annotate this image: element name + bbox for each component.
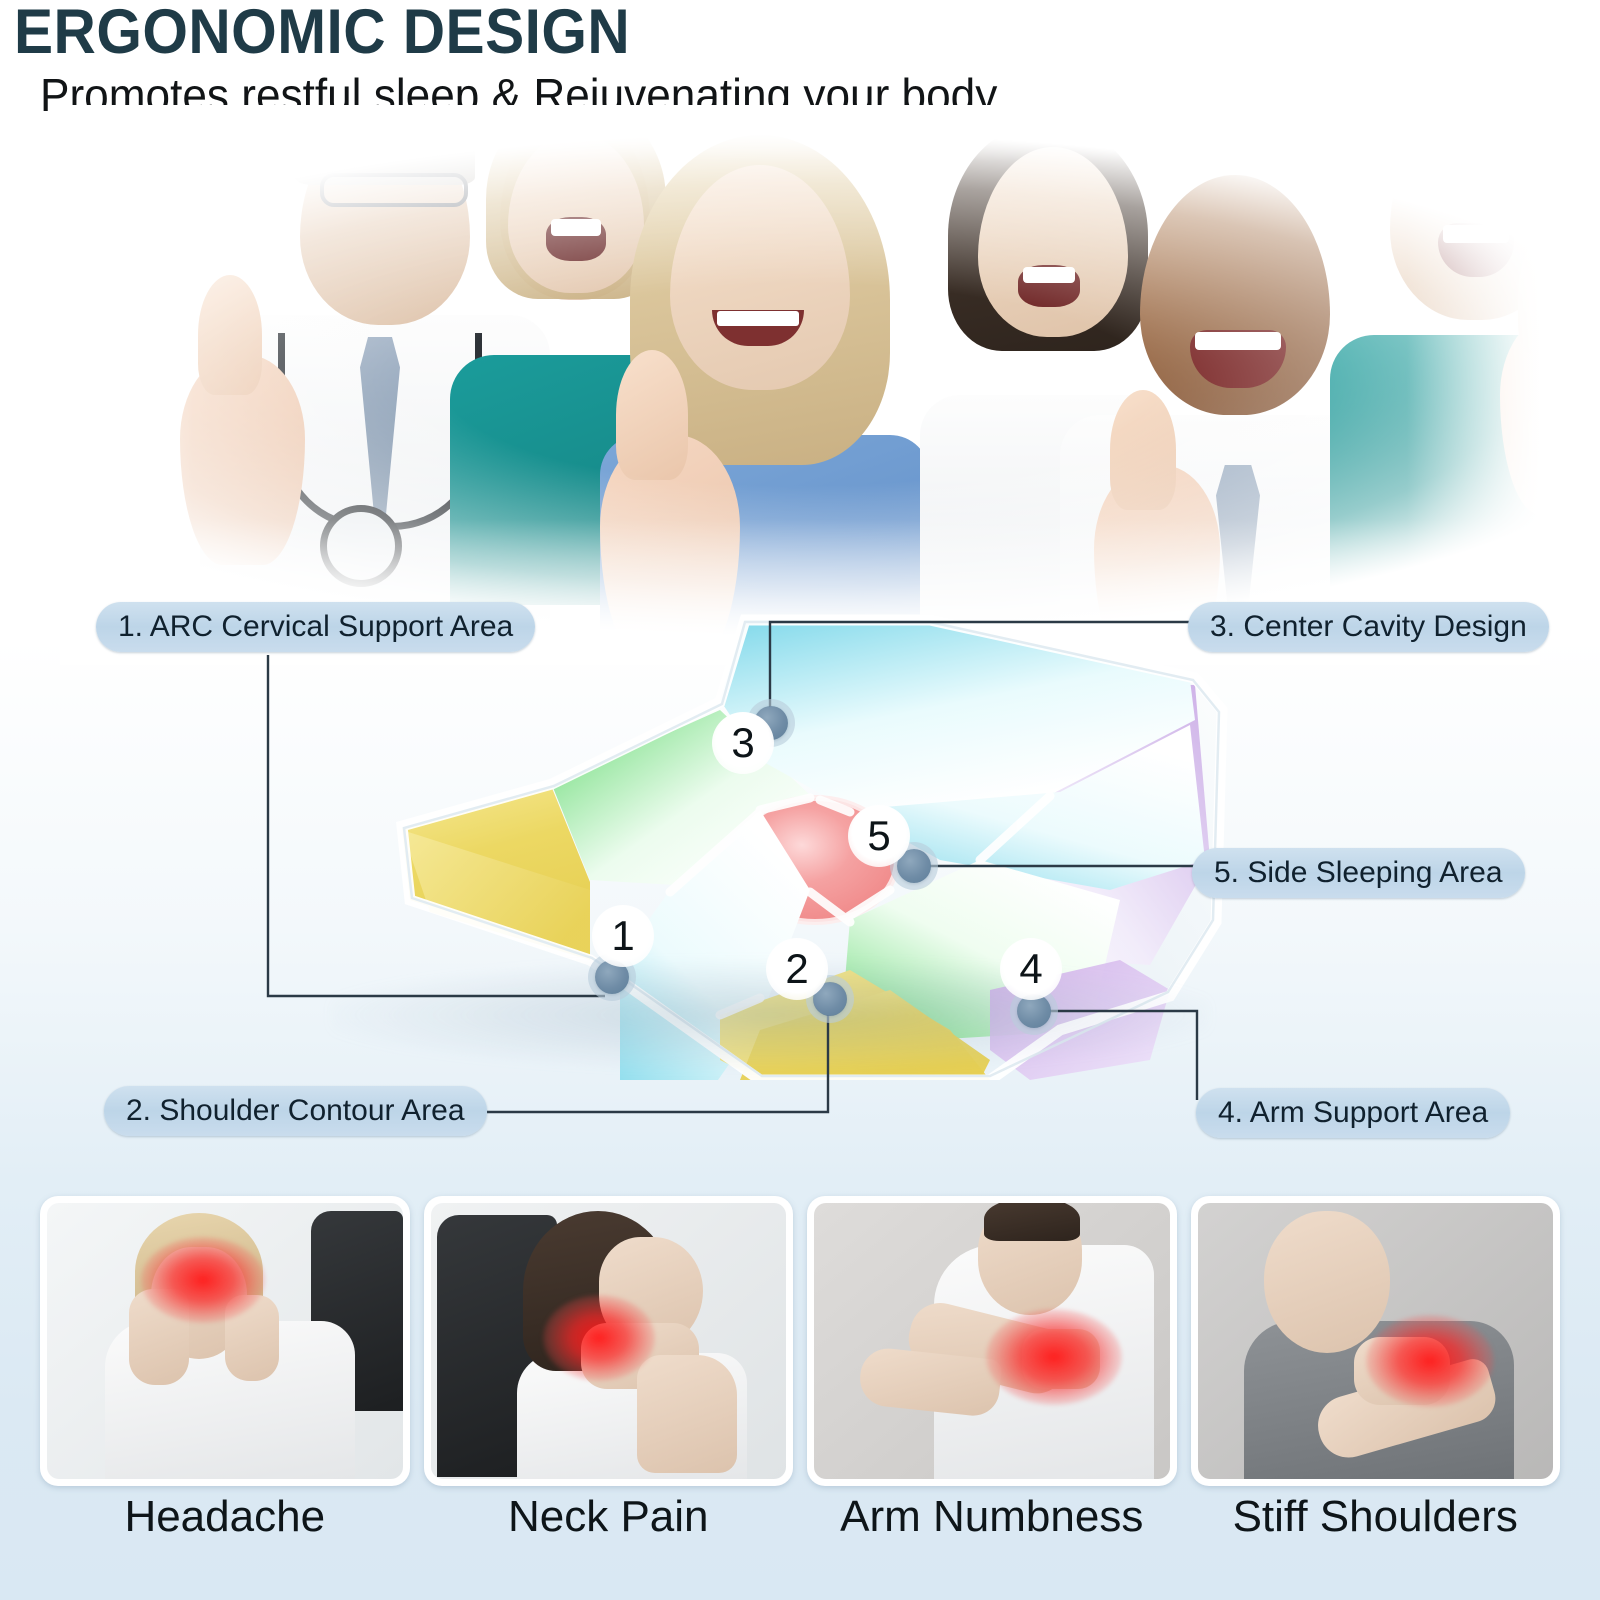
callout-pill-4[interactable]: 4. Arm Support Area: [1196, 1088, 1510, 1138]
problem-card-stiff-shoulders[interactable]: [1191, 1196, 1561, 1486]
pillow-number-4: 4: [1000, 938, 1062, 1000]
pillow-number-1: 1: [592, 905, 654, 967]
problem-card-headache[interactable]: [40, 1196, 410, 1486]
page-title: ERGONOMIC DESIGN: [14, 0, 630, 68]
problem-image-arm-numbness: [814, 1203, 1170, 1479]
infographic-page: ERGONOMIC DESIGN Promotes restful sleep …: [0, 0, 1600, 1600]
person-male-nurse-teal: [1350, 105, 1540, 625]
callout-pill-2[interactable]: 2. Shoulder Contour Area: [104, 1086, 487, 1136]
problem-cards-row: [40, 1196, 1560, 1486]
callout-pill-3[interactable]: 3. Center Cavity Design: [1188, 602, 1549, 652]
pillow-number-3: 3: [712, 712, 774, 774]
problem-card-neck-pain[interactable]: [424, 1196, 794, 1486]
caption-headache: Headache: [40, 1492, 410, 1562]
pain-indicator: [543, 1295, 655, 1381]
problem-image-stiff-shoulders: [1198, 1203, 1554, 1479]
problem-captions-row: Headache Neck Pain Arm Numbness Stiff Sh…: [40, 1492, 1560, 1562]
problem-card-arm-numbness[interactable]: [807, 1196, 1177, 1486]
pillow-number-5: 5: [848, 805, 910, 867]
pillow-number-2: 2: [766, 938, 828, 1000]
problem-image-headache: [47, 1203, 403, 1479]
caption-neck-pain: Neck Pain: [424, 1492, 794, 1562]
caption-stiff-shoulders: Stiff Shoulders: [1191, 1492, 1561, 1562]
pain-indicator: [986, 1309, 1122, 1405]
callout-pill-5[interactable]: 5. Side Sleeping Area: [1192, 848, 1525, 898]
caption-arm-numbness: Arm Numbness: [807, 1492, 1177, 1562]
pain-indicator: [141, 1237, 265, 1323]
problem-image-neck-pain: [431, 1203, 787, 1479]
pain-indicator: [1366, 1315, 1494, 1407]
callout-pill-1[interactable]: 1. ARC Cervical Support Area: [96, 602, 535, 652]
